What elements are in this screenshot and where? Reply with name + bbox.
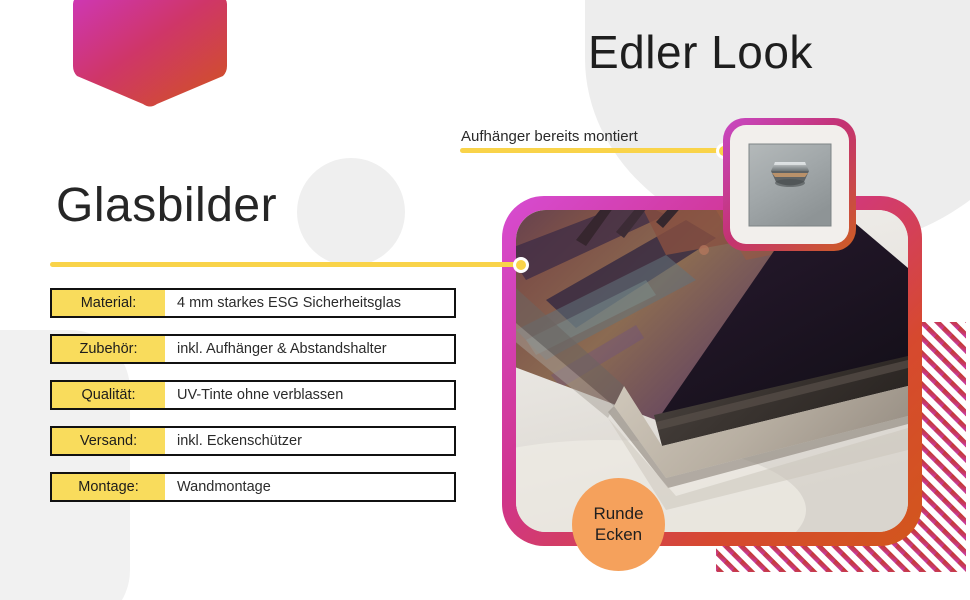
table-row: Qualität: UV-Tinte ohne verblassen	[50, 380, 456, 410]
hanger-callout-thumbnail	[723, 118, 856, 251]
table-row: Montage: Wandmontage	[50, 472, 456, 502]
page-title: Glasbilder	[56, 178, 277, 233]
callout-inner-frame	[730, 125, 849, 244]
badge-line-1: Runde	[593, 504, 643, 525]
hanger-annotation-label: Aufhänger bereits montiert	[461, 128, 638, 145]
badge-line-2: Ecken	[595, 525, 642, 546]
status-badge-round-corners: Runde Ecken	[572, 478, 665, 571]
spec-value: UV-Tinte ohne verblassen	[165, 382, 454, 408]
specification-table: Material: 4 mm starkes ESG Sicherheitsgl…	[50, 288, 456, 518]
spec-value: 4 mm starkes ESG Sicherheitsglas	[165, 290, 454, 316]
product-photo	[516, 210, 908, 532]
connector-line-main	[50, 262, 522, 267]
spec-key: Versand:	[52, 428, 165, 454]
spec-value: inkl. Aufhänger & Abstandshalter	[165, 336, 454, 362]
spec-value: Wandmontage	[165, 474, 454, 500]
spec-key: Zubehör:	[52, 336, 165, 362]
table-row: Material: 4 mm starkes ESG Sicherheitsgl…	[50, 288, 456, 318]
infographic-canvas: Glasbilder Edler Look Aufhänger bereits …	[0, 0, 970, 600]
feature-title: Edler Look	[588, 25, 813, 79]
connector-dot-main	[513, 257, 529, 273]
product-photo-frame	[502, 196, 922, 546]
spec-key: Montage:	[52, 474, 165, 500]
wall-hanger-bracket-icon	[747, 142, 833, 228]
table-row: Versand: inkl. Eckenschützer	[50, 426, 456, 456]
table-row: Zubehör: inkl. Aufhänger & Abstandshalte…	[50, 334, 456, 364]
background-circle-accent	[297, 158, 405, 266]
spec-value: inkl. Eckenschützer	[165, 428, 454, 454]
spec-key: Material:	[52, 290, 165, 316]
connector-line-hanger	[460, 148, 723, 153]
spec-key: Qualität:	[52, 382, 165, 408]
shield-banner-logo	[65, 0, 235, 110]
